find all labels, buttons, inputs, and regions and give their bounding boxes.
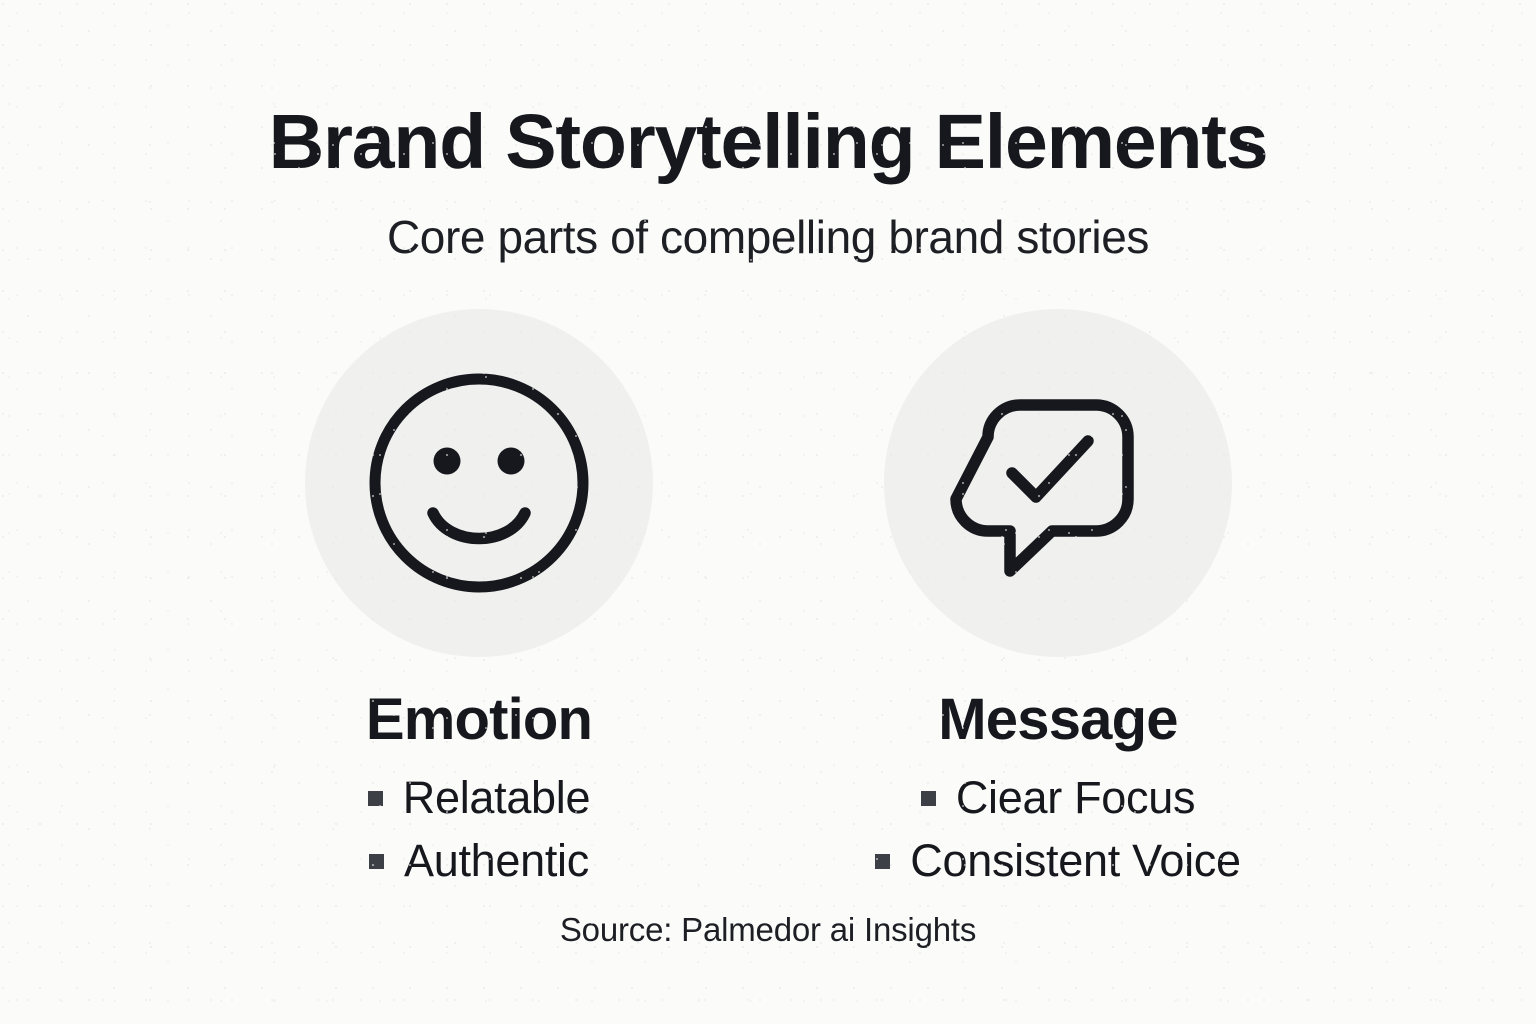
bullet-list-emotion: Relatable Authentic [239, 775, 719, 883]
list-item: Consistent Voice [818, 838, 1298, 883]
bullet-list-message: Ciear Focus Consistent Voice [818, 775, 1298, 883]
infographic-canvas: Brand Storytelling Elements Core parts o… [0, 0, 1536, 1024]
icon-disc-emotion [305, 309, 653, 657]
bullet-square-icon [875, 854, 890, 869]
source-attribution: Source: Palmedor ai Insights [0, 913, 1536, 946]
bullet-square-icon [369, 854, 384, 869]
element-card-message: Message Ciear Focus Consistent Voice [818, 300, 1298, 901]
smiley-face-icon [363, 367, 595, 599]
page-subtitle: Core parts of compelling brand stories [0, 214, 1536, 260]
list-item: Ciear Focus [818, 775, 1298, 820]
list-item-label: Consistent Voice [910, 838, 1240, 883]
bullet-square-icon [368, 791, 383, 806]
list-item-label: Authentic [404, 838, 589, 883]
speech-bubble-check-icon [942, 367, 1174, 599]
bullet-square-icon [921, 791, 936, 806]
list-item: Authentic [239, 838, 719, 883]
list-item: Relatable [239, 775, 719, 820]
icon-disc-message [884, 309, 1232, 657]
element-card-emotion: Emotion Relatable Authentic [239, 300, 719, 901]
card-heading-message: Message [818, 691, 1298, 749]
elements-columns: Emotion Relatable Authentic [0, 300, 1536, 900]
page-title: Brand Storytelling Elements [0, 104, 1536, 181]
list-item-label: Relatable [403, 775, 590, 820]
list-item-label: Ciear Focus [956, 775, 1195, 820]
card-heading-emotion: Emotion [239, 691, 719, 749]
